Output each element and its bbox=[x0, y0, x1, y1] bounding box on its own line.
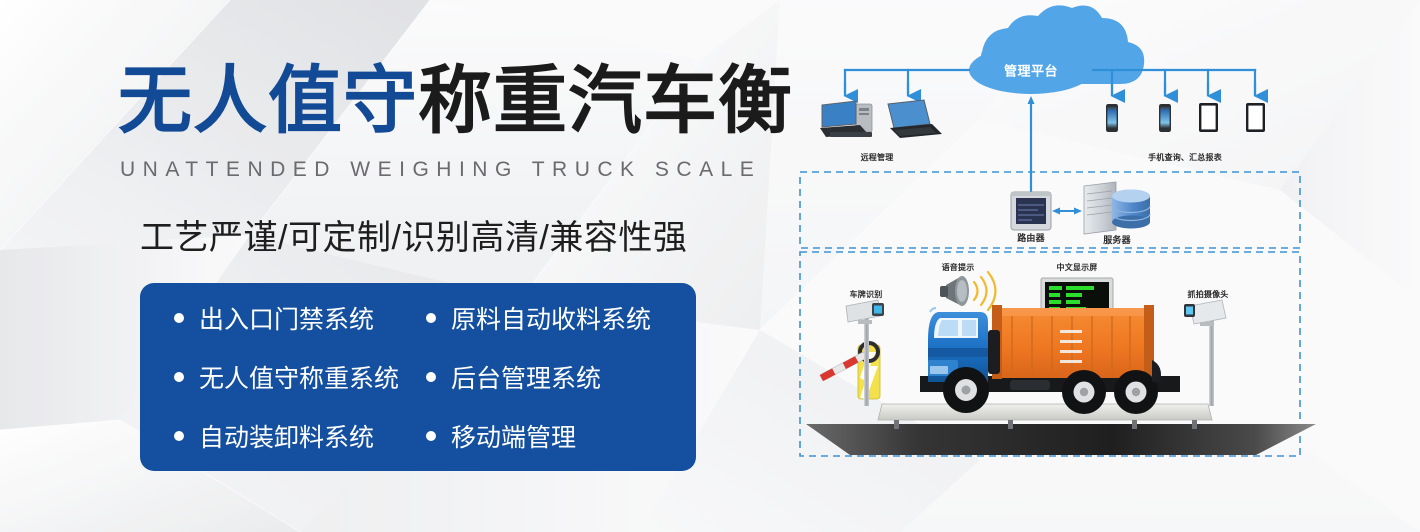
uplink-arrow-icon bbox=[1028, 96, 1035, 104]
router-label: 路由器 bbox=[1017, 231, 1045, 244]
truck-wheel bbox=[943, 367, 989, 413]
system-architecture-diagram: 管理平台 远程管理 手机查询、汇总报表 路由器 服务器 车牌识别 语音提示 中文… bbox=[760, 0, 1420, 532]
barrier-gate-icon bbox=[820, 343, 880, 399]
remote-management-label: 远程管理 bbox=[861, 152, 894, 163]
feature-item[interactable]: 无人值守称重系统 bbox=[174, 359, 426, 395]
plate-recognition-label: 车牌识别 bbox=[850, 289, 883, 300]
page-title: 无人值守称重汽车衡 bbox=[118, 58, 793, 144]
feature-label: 原料自动收料系统 bbox=[451, 300, 651, 336]
server-label: 服务器 bbox=[1103, 233, 1131, 246]
feature-item[interactable]: 原料自动收料系统 bbox=[426, 300, 696, 336]
router-icon bbox=[1011, 192, 1051, 230]
feature-label: 自动装卸料系统 bbox=[199, 418, 374, 454]
laptop-icon bbox=[888, 100, 942, 138]
feature-label: 后台管理系统 bbox=[451, 359, 601, 395]
bullet-dot-icon bbox=[174, 372, 184, 382]
feature-item[interactable]: 出入口门禁系统 bbox=[174, 300, 426, 336]
feature-item[interactable]: 移动端管理 bbox=[426, 418, 696, 454]
bullet-dot-icon bbox=[426, 313, 436, 323]
banner-root: 无人值守称重汽车衡 UNATTENDED WEIGHING TRUCK SCAL… bbox=[0, 0, 1420, 532]
dump-truck-illustration bbox=[920, 305, 1180, 414]
server-icon bbox=[1084, 182, 1150, 234]
chinese-display-label: 中文显示屏 bbox=[1057, 262, 1098, 273]
bullet-dot-icon bbox=[174, 431, 184, 441]
voice-prompt-label: 语音提示 bbox=[942, 262, 975, 273]
cloud-shape bbox=[969, 5, 1144, 94]
cloud-platform-label: 管理平台 bbox=[1004, 61, 1058, 80]
tagline: 工艺严谨/可定制/识别高清/兼容性强 bbox=[140, 210, 687, 259]
left-content: 无人值守称重汽车衡 UNATTENDED WEIGHING TRUCK SCAL… bbox=[0, 0, 760, 532]
smartphone-icon bbox=[1106, 104, 1118, 132]
subtitle-english: UNATTENDED WEIGHING TRUCK SCALE bbox=[120, 158, 761, 182]
capture-camera-label: 抓拍摄像头 bbox=[1188, 289, 1229, 300]
feature-label: 无人值守称重系统 bbox=[199, 359, 399, 395]
capture-camera-icon bbox=[1184, 300, 1226, 406]
title-highlight: 无人值守 bbox=[118, 59, 418, 142]
feature-list-box: 出入口门禁系统 原料自动收料系统 无人值守称重系统 后台管理系统 自动装卸料系统 bbox=[140, 283, 696, 471]
smartphone-icon bbox=[1159, 104, 1171, 132]
truck-wheel bbox=[1062, 370, 1106, 414]
tablet-icon bbox=[1246, 103, 1265, 132]
bullet-dot-icon bbox=[174, 313, 184, 323]
feature-item[interactable]: 自动装卸料系统 bbox=[174, 418, 426, 454]
mobile-query-label: 手机查询、汇总报表 bbox=[1148, 152, 1222, 163]
desktop-pc-icon bbox=[820, 101, 872, 137]
ground-plane bbox=[806, 424, 1316, 455]
feature-label: 出入口门禁系统 bbox=[199, 300, 374, 336]
bullet-dot-icon bbox=[426, 372, 436, 382]
bullet-dot-icon bbox=[426, 431, 436, 441]
feature-label: 移动端管理 bbox=[451, 418, 576, 454]
truck-wheel bbox=[1114, 370, 1158, 414]
feature-item[interactable]: 后台管理系统 bbox=[426, 359, 696, 395]
title-rest: 称重汽车衡 bbox=[418, 59, 793, 142]
voice-speaker-icon bbox=[940, 272, 996, 310]
tablet-icon bbox=[1199, 103, 1218, 132]
